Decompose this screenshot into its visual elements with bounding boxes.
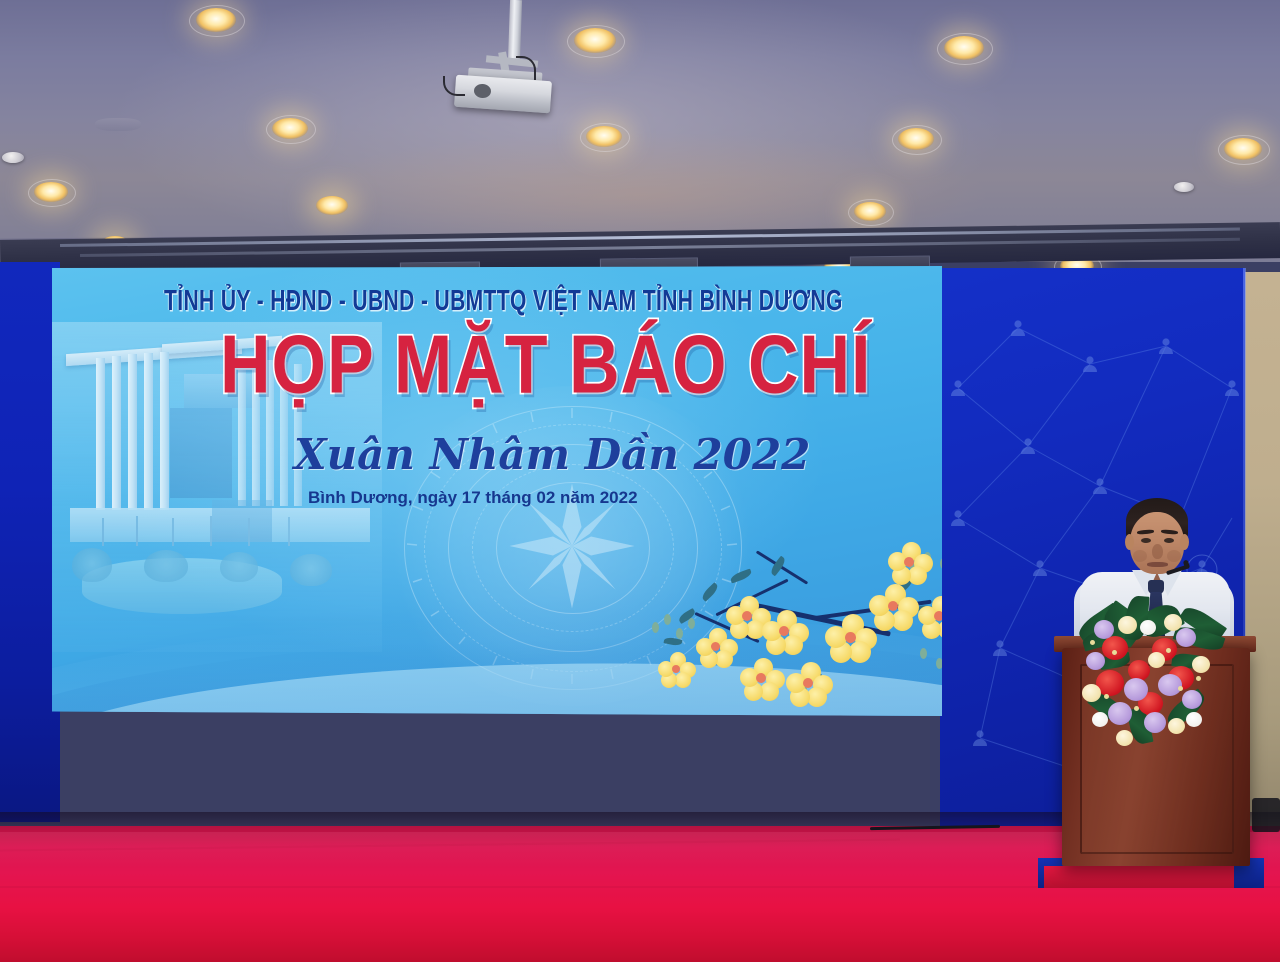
ceiling-vent (95, 118, 141, 131)
smoke-detector-icon (1174, 182, 1194, 192)
speaker-cheek (1133, 550, 1147, 562)
speaker-ear-right (1180, 534, 1189, 550)
speaker-eye-right (1164, 538, 1174, 543)
downlight-ring (266, 115, 316, 144)
downlight-ring (28, 179, 76, 207)
led-panel-left (0, 262, 60, 822)
banner-subtitle: Xuân Nhâm Dần 2022 (294, 430, 810, 479)
screenshot-root: TỈNH ỦY - HĐND - UBND - UBMTTQ VIỆT NAM … (0, 0, 1280, 962)
smoke-detector-icon (2, 152, 24, 163)
speaker-nose (1152, 544, 1163, 559)
podium-platform-trim (1044, 866, 1234, 888)
banner-title: HỌP MẶT BÁO CHÍ (220, 317, 872, 411)
event-banner-screen: TỈNH ỦY - HĐND - UBND - UBMTTQ VIỆT NAM … (52, 266, 942, 716)
downlight-ring (1218, 135, 1270, 165)
projector-mount-pole (508, 0, 522, 62)
speaker-cheek (1167, 550, 1181, 562)
speaker-tie-knot (1148, 580, 1164, 594)
projector-body (454, 75, 552, 114)
downlight-ring (580, 123, 630, 152)
downlight-ring (892, 125, 942, 155)
banner-date-line: Bình Dương, ngày 17 tháng 02 năm 2022 (308, 488, 638, 508)
downlight-ring (848, 199, 894, 226)
floor-equipment (1252, 798, 1280, 832)
downlight-ring (937, 33, 993, 65)
downlight-ring (189, 5, 245, 37)
speaker-eye-left (1141, 538, 1151, 543)
speaker-ear-left (1125, 534, 1134, 550)
speaker-mouth (1147, 562, 1168, 567)
banner-organizers-line: TỈNH ỦY - HĐND - UBND - UBMTTQ VIỆT NAM … (164, 286, 843, 318)
ceiling-downlight (316, 196, 348, 215)
downlight-ring (567, 25, 625, 58)
